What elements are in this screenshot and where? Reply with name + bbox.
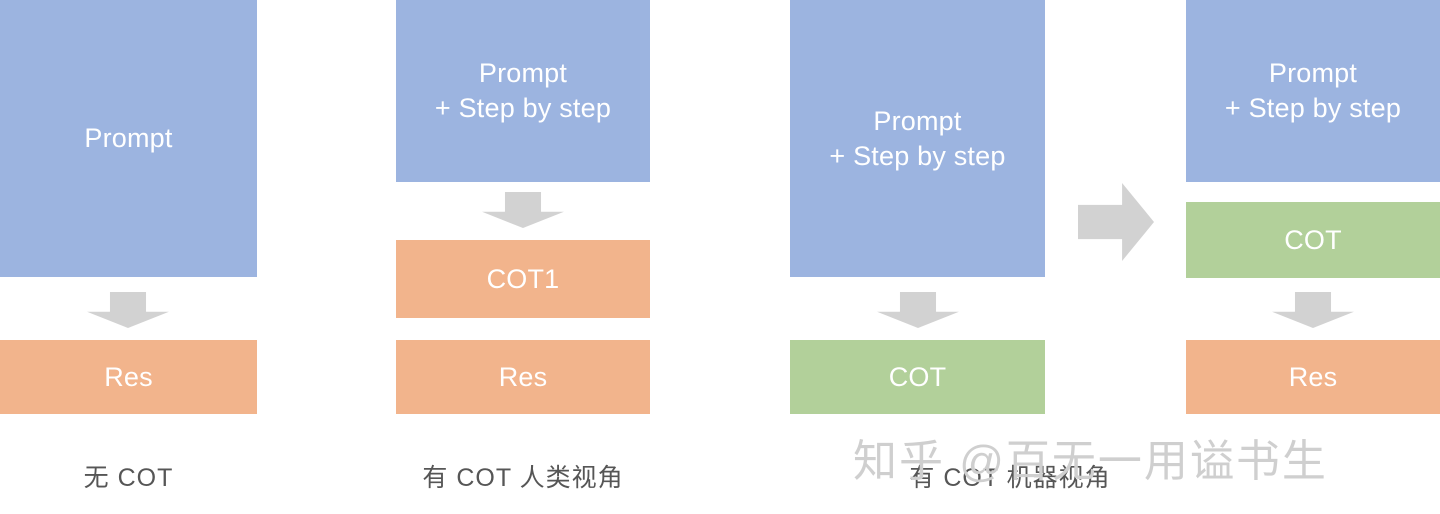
arrow-down-icon — [87, 292, 169, 328]
node-prompt-col3: Prompt + Step by step — [790, 0, 1045, 277]
caption-col2: 有 COT 人类视角 — [396, 458, 650, 494]
node-label: Res — [1289, 360, 1338, 395]
diagram-canvas: Prompt Res 无 COT Prompt + Step by step C… — [0, 0, 1440, 514]
node-res-col2: Res — [396, 340, 650, 414]
node-res-col4: Res — [1186, 340, 1440, 414]
node-label: Prompt + Step by step — [435, 56, 611, 125]
node-cot-col3: COT — [790, 340, 1045, 414]
node-label: Prompt + Step by step — [829, 104, 1005, 173]
node-label: Prompt — [84, 121, 172, 156]
node-label: Prompt + Step by step — [1225, 56, 1401, 125]
arrow-down-icon — [1272, 292, 1354, 328]
node-label: COT — [1284, 223, 1342, 258]
node-label: Res — [499, 360, 548, 395]
node-prompt-col4: Prompt + Step by step — [1186, 0, 1440, 182]
node-cot-col4: COT — [1186, 202, 1440, 278]
node-res-col1: Res — [0, 340, 257, 414]
node-prompt-col1: Prompt — [0, 0, 257, 277]
node-label: COT1 — [487, 262, 560, 297]
node-label: Res — [104, 360, 153, 395]
node-label: COT — [889, 360, 947, 395]
caption-col1: 无 COT — [0, 458, 257, 494]
arrow-down-icon — [877, 292, 959, 328]
node-prompt-col2: Prompt + Step by step — [396, 0, 650, 182]
node-cot1-col2: COT1 — [396, 240, 650, 318]
caption-col3: 有 COT 机器视角 — [790, 458, 1230, 494]
arrow-down-icon — [482, 192, 564, 228]
arrow-right-icon — [1078, 183, 1154, 261]
